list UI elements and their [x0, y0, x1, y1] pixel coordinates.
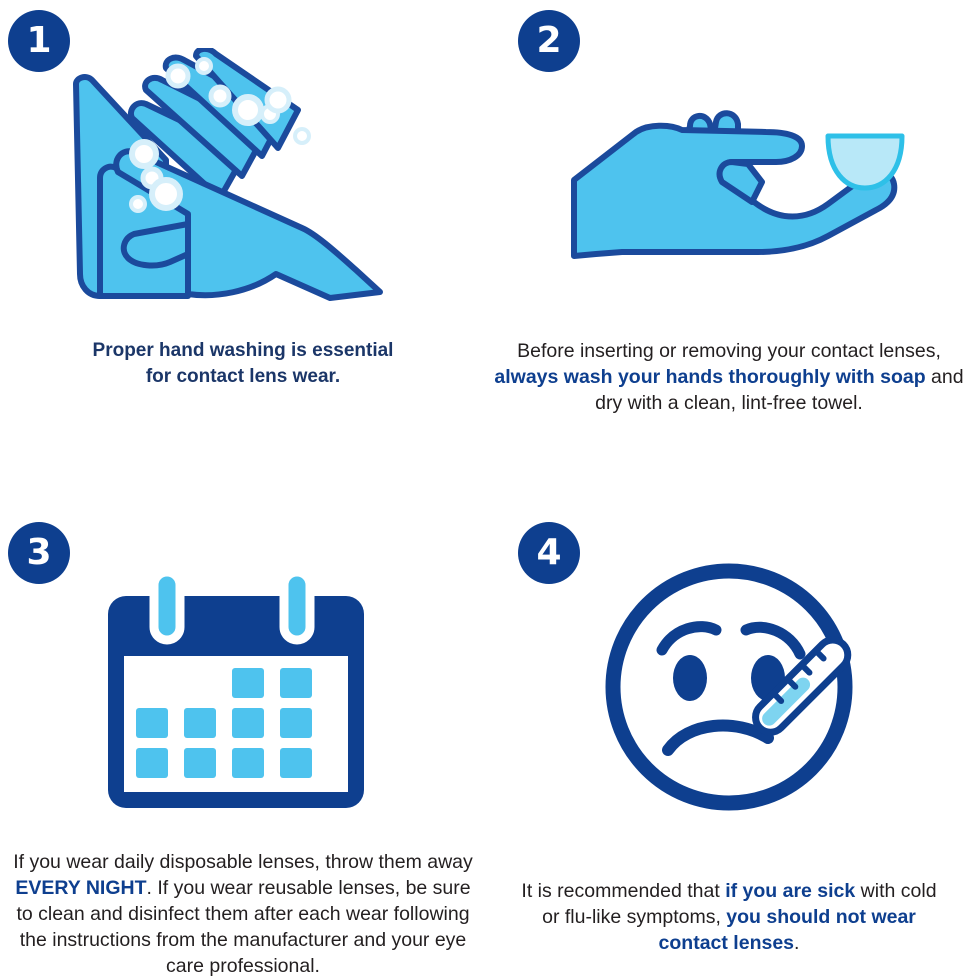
- panel-4-caption-seg-5: .: [794, 932, 799, 954]
- panel-3-caption-seg-1: If you wear daily disposable lenses, thr…: [13, 851, 473, 873]
- sick-face-thermometer-icon: [596, 556, 886, 818]
- step-number-badge-4: 4: [518, 522, 580, 584]
- panel-step-4: 4: [486, 486, 972, 972]
- panel-3-caption-seg-2: EVERY NIGHT: [15, 877, 146, 899]
- panel-step-2: 2 Before inserting or rem: [486, 0, 972, 486]
- washing-hands-icon: [70, 48, 400, 320]
- step-number-4: 4: [536, 535, 561, 571]
- step-number-3: 3: [26, 535, 51, 571]
- panel-step-1: 1: [0, 0, 486, 486]
- panel-2-caption: Before inserting or removing your contac…: [486, 338, 972, 416]
- step-number-badge-2: 2: [518, 10, 580, 72]
- panel-4-caption-seg-2: if you are sick: [725, 880, 855, 902]
- step-number-badge-3: 3: [8, 522, 70, 584]
- hand-holding-contact-lens-icon: [566, 96, 916, 296]
- panel-2-caption-seg-2: always wash your hands thoroughly with s…: [494, 366, 925, 388]
- step-number-2: 2: [536, 23, 561, 59]
- panel-2-caption-seg-1: Before inserting or removing your contac…: [517, 340, 941, 362]
- panel-4-caption: It is recommended that if you are sick w…: [486, 878, 972, 956]
- panel-1-caption-line-2: for contact lens wear.: [44, 364, 442, 390]
- step-number-1: 1: [26, 23, 51, 59]
- panel-3-caption: If you wear daily disposable lenses, thr…: [0, 849, 486, 979]
- panel-1-caption-line-1: Proper hand washing is essential: [44, 338, 442, 364]
- contact-lens-care-infographic: 1: [0, 0, 972, 972]
- left-eye: [673, 655, 707, 701]
- step-number-badge-1: 1: [8, 10, 70, 72]
- calendar-icon: [96, 564, 376, 814]
- panel-step-3: 3: [0, 486, 486, 972]
- panel-1-caption: Proper hand washing is essential for con…: [0, 338, 486, 390]
- panel-4-caption-seg-1: It is recommended that: [521, 880, 725, 902]
